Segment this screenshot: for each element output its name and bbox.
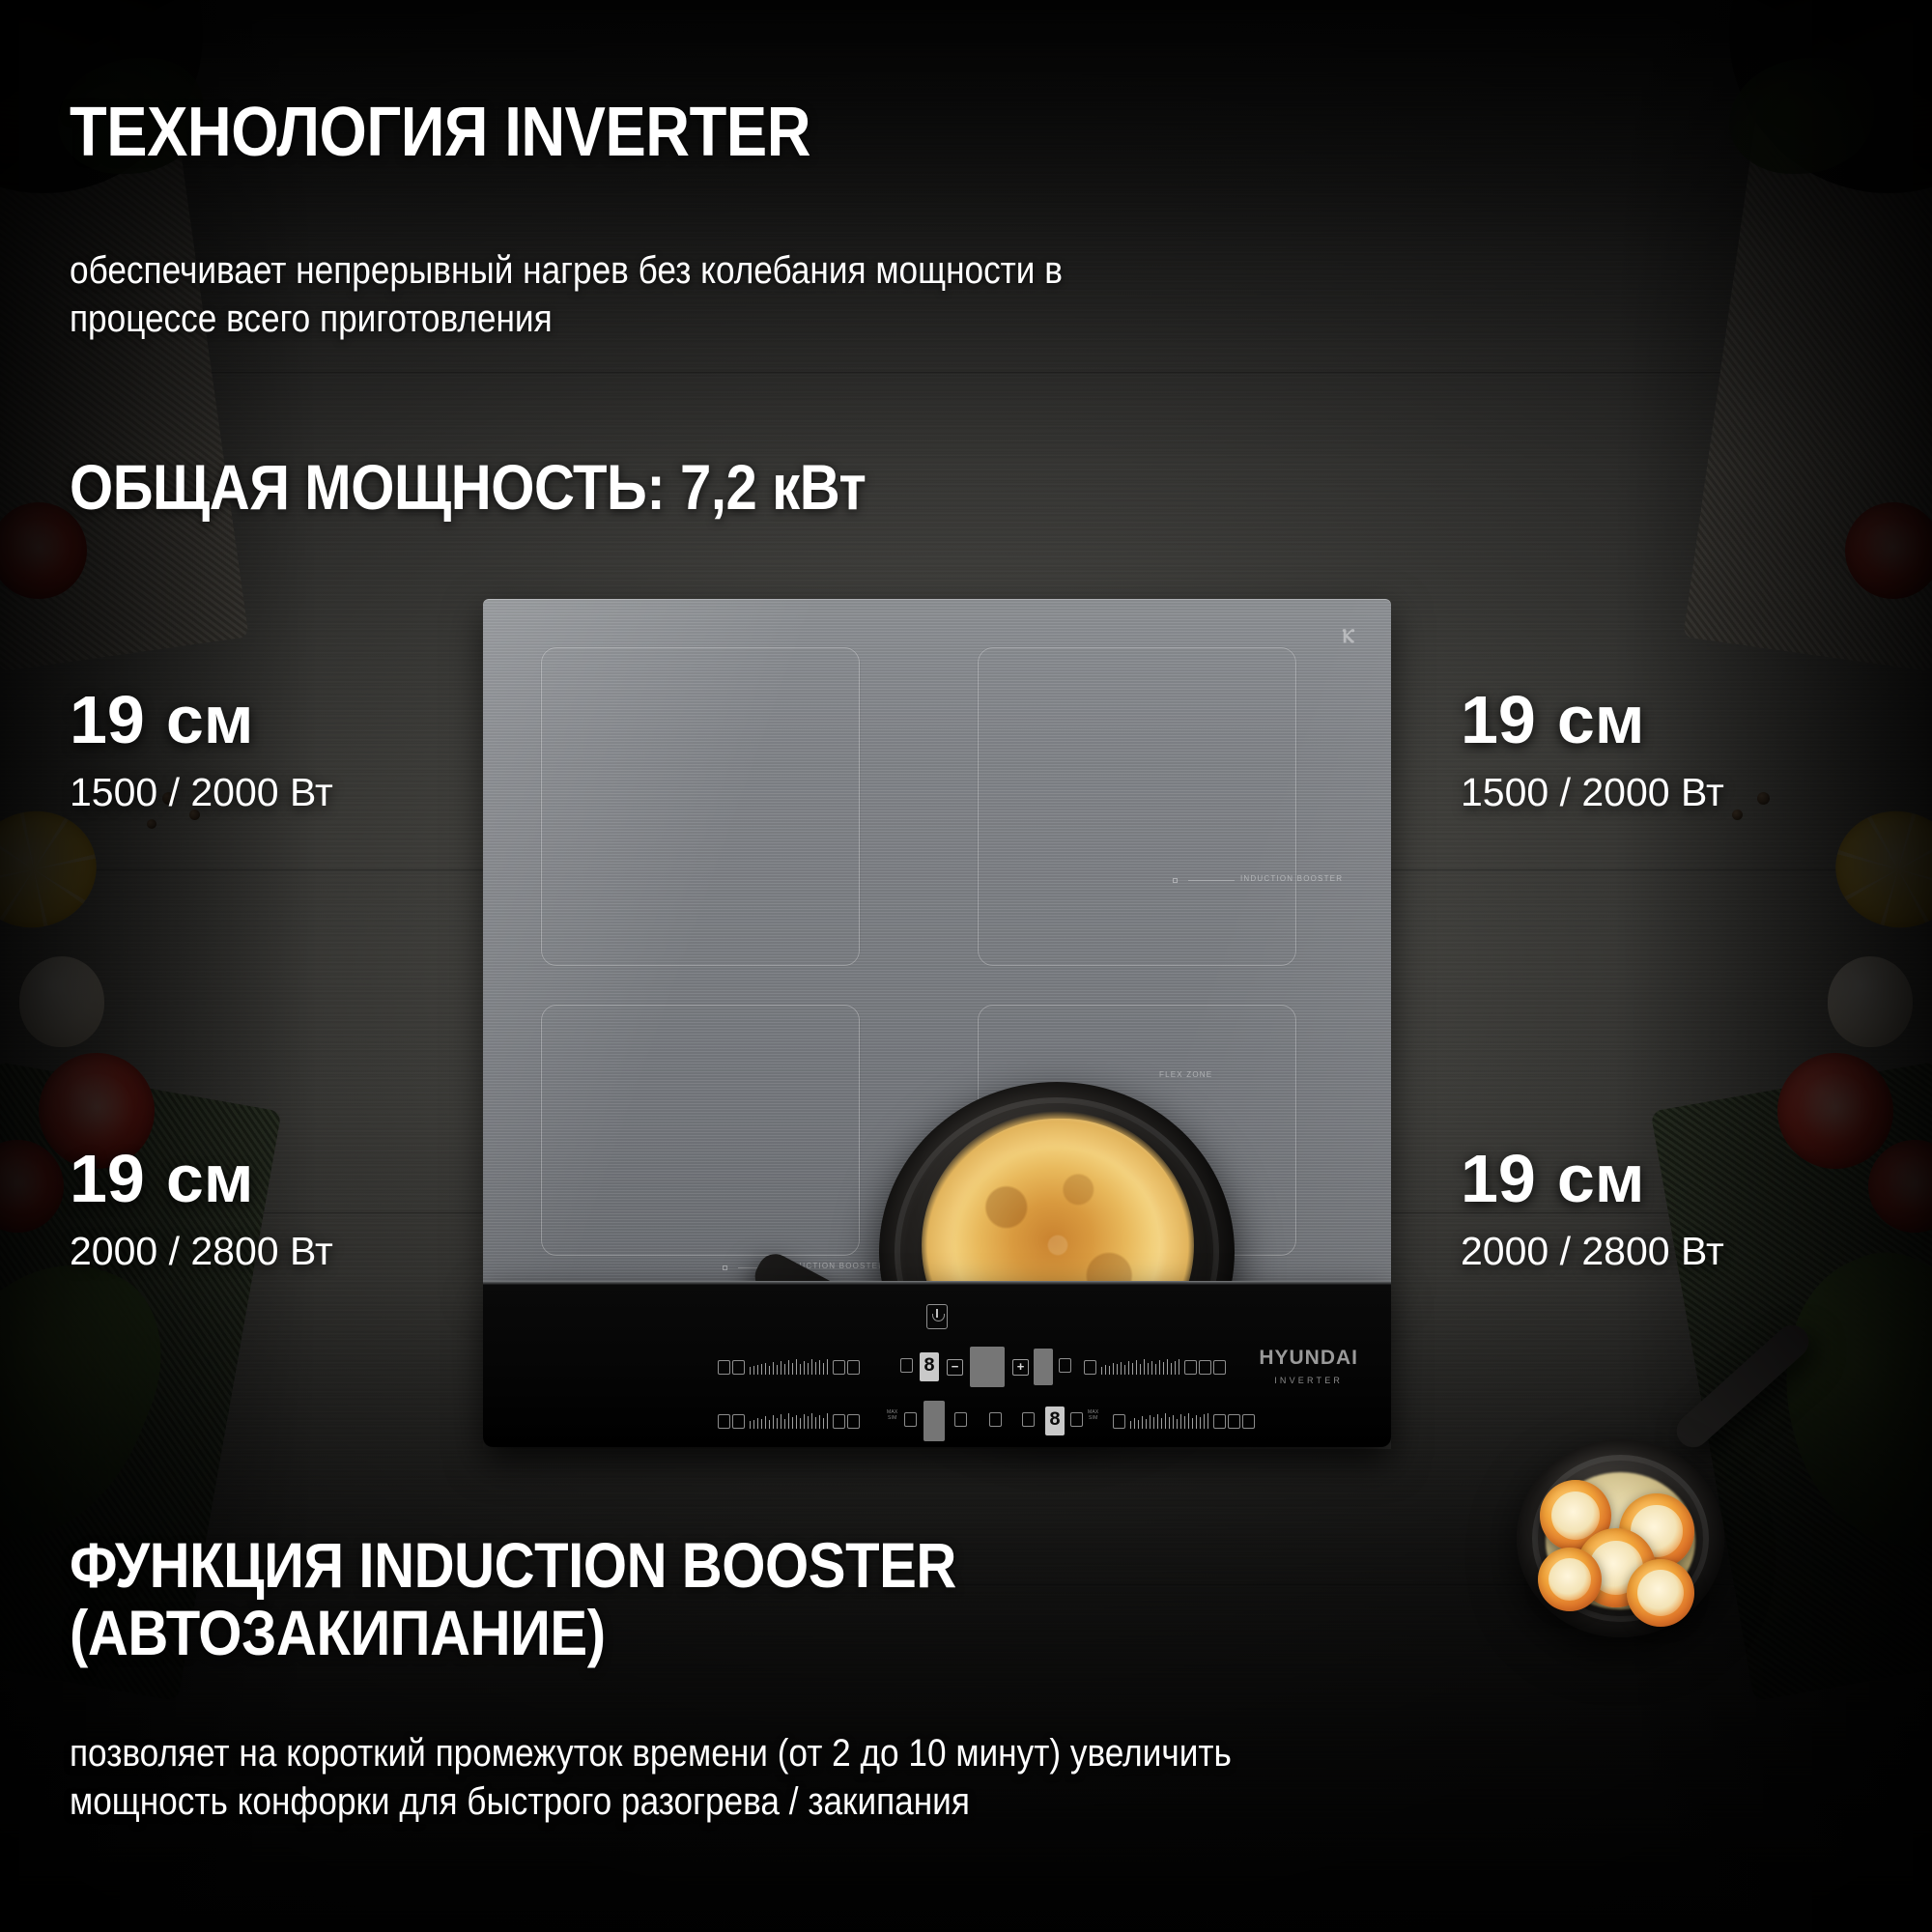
peppercorn bbox=[147, 819, 156, 829]
zone-select-icon-left[interactable] bbox=[900, 1358, 913, 1373]
burner-size-value: 19 bbox=[70, 1141, 145, 1216]
burner-size-bottom-right: 19см bbox=[1461, 1145, 1724, 1212]
burner-size-unit: см bbox=[166, 1141, 254, 1216]
garlic-clove bbox=[1828, 956, 1913, 1047]
boost-icon bbox=[847, 1414, 860, 1429]
burner-size-unit: см bbox=[1557, 1141, 1645, 1216]
key-pad-b[interactable] bbox=[1034, 1349, 1053, 1385]
power-button-icon[interactable] bbox=[926, 1304, 948, 1329]
burner-size-unit: см bbox=[166, 682, 254, 757]
burner-size-value: 19 bbox=[70, 682, 145, 757]
slider-left-top[interactable] bbox=[718, 1354, 860, 1379]
plank-seam bbox=[0, 372, 1932, 375]
burner-size-unit: см bbox=[1557, 682, 1645, 757]
slider-ticks-right[interactable] bbox=[1101, 1359, 1179, 1375]
burner-power-bottom-left: 2000 / 2800 Вт bbox=[70, 1232, 333, 1271]
burner-power-bottom-right: 2000 / 2800 Вт bbox=[1461, 1232, 1724, 1271]
nine-icon bbox=[833, 1414, 845, 1429]
timer-icon[interactable] bbox=[1213, 1360, 1226, 1375]
flexzone-icon-right[interactable] bbox=[1070, 1412, 1083, 1427]
burner-power-top-right: 1500 / 2000 Вт bbox=[1461, 773, 1724, 812]
display-left: 8 bbox=[920, 1352, 939, 1381]
burner-size-top-left: 19см bbox=[70, 686, 333, 753]
key-pad-a[interactable] bbox=[970, 1347, 1005, 1387]
slider-ticks-right-2[interactable] bbox=[1130, 1413, 1208, 1429]
cooktop-logo-mark: Ⲕ bbox=[1342, 626, 1352, 648]
minus-button[interactable]: − bbox=[947, 1359, 963, 1376]
plus-button[interactable]: + bbox=[1012, 1359, 1029, 1376]
zero-icon bbox=[732, 1360, 745, 1375]
zero-icon bbox=[1084, 1360, 1096, 1375]
nine-icon bbox=[1184, 1360, 1197, 1375]
slider-right-bottom[interactable] bbox=[1113, 1408, 1255, 1434]
control-panel[interactable]: 8 − + bbox=[483, 1281, 1391, 1447]
burner-callout-top-right: 19см 1500 / 2000 Вт bbox=[1461, 686, 1724, 812]
inverter-description-line-2: процессе всего приготовления bbox=[70, 298, 553, 341]
burner-size-bottom-left: 19см bbox=[70, 1145, 333, 1212]
nine-icon bbox=[1213, 1414, 1226, 1429]
slider-left-bottom[interactable] bbox=[718, 1408, 860, 1434]
booster-description-line-1: позволяет на короткий промежуток времени… bbox=[70, 1732, 1232, 1776]
boost-icon bbox=[847, 1360, 860, 1375]
zone-indicator-dot bbox=[1173, 878, 1178, 883]
control-row-bottom: MAXSIM 8 MAXSIM bbox=[483, 1405, 1391, 1437]
burner-size-top-right: 19см bbox=[1461, 686, 1724, 753]
slider-right-top[interactable] bbox=[1084, 1354, 1226, 1379]
burner-size-value: 19 bbox=[1461, 682, 1536, 757]
peppercorn bbox=[1757, 792, 1770, 805]
cooking-zone-bottom-left bbox=[541, 1005, 860, 1256]
pause-icon[interactable] bbox=[954, 1412, 967, 1427]
boost-icon bbox=[1199, 1360, 1211, 1375]
burner-callout-bottom-right: 19см 2000 / 2800 Вт bbox=[1461, 1145, 1724, 1271]
panel-top-edge bbox=[483, 1281, 1391, 1285]
total-power-heading: ОБЩАЯ МОЩНОСТЬ: 7,2 кВт bbox=[70, 450, 866, 524]
brand-name: HYUNDAI bbox=[1259, 1347, 1358, 1370]
corn-slice bbox=[1627, 1559, 1694, 1627]
brand-subtitle: INVERTER bbox=[1259, 1376, 1358, 1385]
page-title-inverter: ТЕХНОЛОГИЯ INVERTER bbox=[70, 93, 810, 172]
induction-cooktop: Ⲕ INDUCTION BOOSTER INDUCTION BOOSTER FL… bbox=[483, 599, 1391, 1449]
timer-icon[interactable] bbox=[718, 1360, 730, 1375]
mini-label-max-right: MAXSIM bbox=[1088, 1410, 1098, 1421]
corn-slice bbox=[1538, 1548, 1602, 1611]
slider-ticks-left-2[interactable] bbox=[750, 1413, 828, 1429]
cooking-zone-top-left bbox=[541, 647, 860, 966]
tomato-half bbox=[1777, 1053, 1893, 1169]
zone-label-induction-booster: INDUCTION BOOSTER bbox=[1240, 874, 1343, 883]
booster-title-line-1: ФУНКЦИЯ INDUCTION BOOSTER bbox=[70, 1528, 956, 1602]
booster-title-line-2: (АВТОЗАКИПАНИЕ) bbox=[70, 1596, 606, 1669]
burner-callout-top-left: 19см 1500 / 2000 Вт bbox=[70, 686, 333, 812]
lock-icon-2[interactable] bbox=[1242, 1414, 1255, 1429]
cooking-zone-top-right bbox=[978, 647, 1296, 966]
key-pad-c[interactable] bbox=[923, 1401, 945, 1441]
control-row-top: 8 − + bbox=[483, 1350, 1391, 1383]
zero-icon bbox=[1113, 1414, 1125, 1429]
slider-ticks-left[interactable] bbox=[750, 1359, 828, 1375]
booster-description-line-2: мощность конфорки для быстрого разогрева… bbox=[70, 1780, 970, 1824]
burner-size-value: 19 bbox=[1461, 1141, 1536, 1216]
mini-label-max-left: MAXSIM bbox=[887, 1410, 897, 1421]
burner-power-top-left: 1500 / 2000 Вт bbox=[70, 773, 333, 812]
zone-rule bbox=[1188, 880, 1235, 881]
boost-icon bbox=[1228, 1414, 1240, 1429]
cast-iron-skillet-small bbox=[1517, 1439, 1724, 1637]
zone-label-flex-zone: FLEX ZONE bbox=[1159, 1070, 1212, 1079]
flexzone-icon-left[interactable] bbox=[904, 1412, 917, 1427]
zone-select-icon-right[interactable] bbox=[1059, 1358, 1071, 1373]
timer-icon-2[interactable] bbox=[989, 1412, 1002, 1427]
nine-icon bbox=[833, 1360, 845, 1375]
display-right: 8 bbox=[1045, 1406, 1065, 1435]
garlic-clove bbox=[19, 956, 104, 1047]
product-marketing-image: Ⲕ INDUCTION BOOSTER INDUCTION BOOSTER FL… bbox=[0, 0, 1932, 1932]
zero-icon bbox=[732, 1414, 745, 1429]
keep-warm-icon[interactable] bbox=[1022, 1412, 1035, 1427]
tomato-half bbox=[1845, 502, 1932, 599]
peppercorn bbox=[1732, 810, 1743, 820]
lock-icon[interactable] bbox=[718, 1414, 730, 1429]
inverter-description-line-1: обеспечивает непрерывный нагрев без коле… bbox=[70, 249, 1063, 293]
brand-logo: HYUNDAI INVERTER bbox=[1259, 1347, 1358, 1385]
burner-callout-bottom-left: 19см 2000 / 2800 Вт bbox=[70, 1145, 333, 1271]
zone-indicator-dot bbox=[723, 1265, 727, 1270]
